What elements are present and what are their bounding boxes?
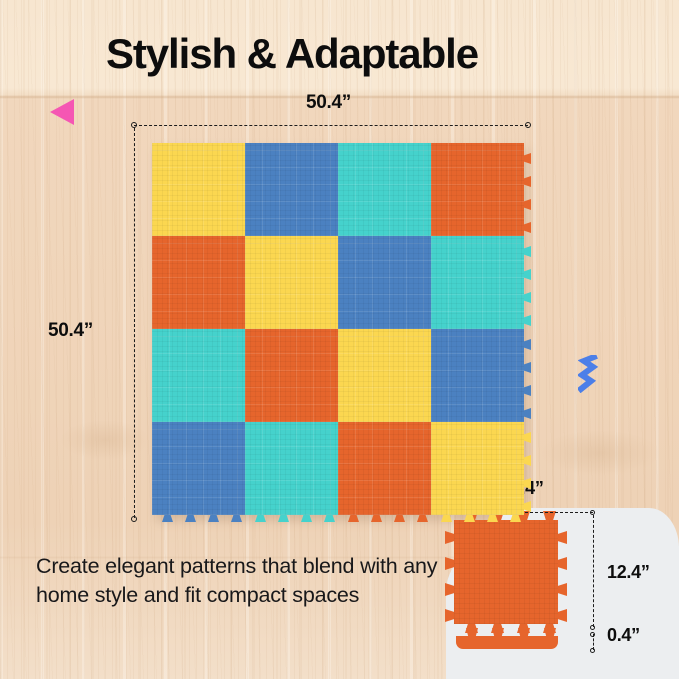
page-title: Stylish & Adaptable: [106, 30, 478, 78]
pink-triangle-icon: [50, 99, 74, 125]
tile-surface: [338, 422, 431, 515]
single-puzzle-tile[interactable]: [454, 520, 558, 624]
dimension-label-mat-width: 50.4”: [306, 92, 351, 114]
puzzle-tile[interactable]: [338, 236, 431, 329]
tile-surface: [431, 143, 524, 236]
puzzle-tile[interactable]: [338, 329, 431, 422]
tile-surface: [431, 422, 524, 515]
puzzle-mat-grid[interactable]: [152, 143, 524, 515]
puzzle-tile[interactable]: [245, 329, 338, 422]
tile-surface: [245, 422, 338, 515]
tile-surface: [431, 236, 524, 329]
blue-zigzag-icon: [578, 355, 610, 398]
puzzle-tile[interactable]: [431, 329, 524, 422]
edge-strip-interlock-tab: [466, 628, 478, 637]
puzzle-tile[interactable]: [152, 329, 245, 422]
puzzle-tile[interactable]: [431, 422, 524, 515]
dimension-endpoint-thickness-top: [590, 632, 595, 637]
single-tile-surface: [454, 520, 558, 624]
puzzle-tile[interactable]: [152, 143, 245, 236]
tile-surface: [152, 329, 245, 422]
single-tile-interlock-tab: [445, 531, 454, 544]
wood-knot: [60, 420, 150, 460]
tile-surface: [152, 236, 245, 329]
edge-strip-interlock-tab: [544, 628, 556, 637]
edge-strip-interlock-tab: [518, 628, 530, 637]
puzzle-tile[interactable]: [245, 143, 338, 236]
tile-surface: [245, 236, 338, 329]
tile-surface: [431, 329, 524, 422]
tile-surface: [338, 236, 431, 329]
edge-strip-interlock-tab: [492, 628, 504, 637]
dimension-label-mat-height: 50.4”: [48, 320, 93, 342]
puzzle-tile[interactable]: [245, 422, 338, 515]
dimension-line-top: [134, 125, 528, 126]
puzzle-tile[interactable]: [431, 143, 524, 236]
puzzle-tile[interactable]: [338, 422, 431, 515]
dimension-label-tile-height: 12.4”: [607, 562, 650, 583]
dimension-line-left: [134, 128, 135, 518]
puzzle-tile[interactable]: [245, 236, 338, 329]
puzzle-tile[interactable]: [338, 143, 431, 236]
tile-surface: [338, 143, 431, 236]
tile-surface: [245, 143, 338, 236]
puzzle-tile[interactable]: [152, 236, 245, 329]
tile-surface: [338, 329, 431, 422]
tile-surface: [152, 143, 245, 236]
infographic-canvas: Stylish & Adaptable 50.4” 50.4” 12.4” 12…: [0, 0, 679, 679]
puzzle-tile[interactable]: [431, 236, 524, 329]
tile-edge-strip: [456, 636, 558, 649]
tile-surface: [245, 329, 338, 422]
wood-knot: [540, 430, 660, 476]
tile-surface: [152, 422, 245, 515]
dimension-endpoint-thickness-bottom: [590, 648, 595, 653]
dimension-line-tile-side: [593, 515, 594, 627]
dimension-endpoint-bottom-left: [131, 516, 137, 522]
dimension-endpoint-tile-side-bottom: [590, 625, 595, 630]
dimension-label-tile-thickness: 0.4”: [607, 625, 640, 646]
puzzle-tile[interactable]: [152, 422, 245, 515]
single-tile-callout: [446, 500, 679, 679]
caption-text: Create elegant patterns that blend with …: [36, 552, 446, 610]
dimension-endpoint-top-right: [525, 122, 531, 128]
